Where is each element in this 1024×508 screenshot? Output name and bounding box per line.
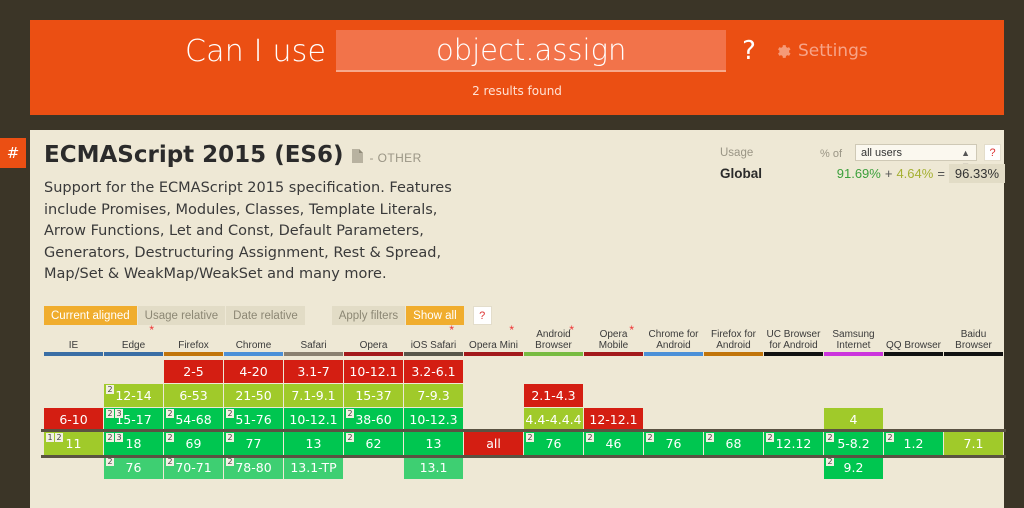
version-cell-empty [44, 384, 103, 407]
version-label: 2.1-4.3 [531, 388, 575, 403]
browser-name: UC Browserfor Android [764, 328, 823, 352]
version-cell[interactable]: 10-12.3 [404, 408, 463, 431]
version-label: 10-12.3 [409, 412, 457, 427]
version-cell[interactable]: 4 [824, 408, 883, 431]
version-cell-empty [464, 456, 523, 479]
version-cell[interactable]: 4-20 [224, 360, 283, 383]
version-cell-empty [644, 408, 703, 431]
version-label: 77 [246, 436, 262, 451]
footnote-badge[interactable]: 2 [106, 457, 114, 466]
version-cell[interactable]: 13.1 [404, 456, 463, 479]
version-label: 76 [666, 436, 682, 451]
version-cell[interactable]: 13.1-TP [284, 456, 343, 479]
version-cell-empty [764, 456, 823, 479]
version-label: 2-5 [183, 364, 203, 379]
version-cell-stack: 212-142315-172318276 [104, 356, 163, 479]
footnote-badges: 2 [166, 433, 175, 442]
browser-name: IE [44, 328, 103, 352]
browser-note-asterisk-icon: * [569, 326, 574, 334]
version-label: 15-37 [355, 388, 391, 403]
apply-filters-button[interactable]: Apply filters [332, 306, 405, 325]
footnote-badge[interactable]: 1 [46, 433, 54, 442]
version-cell-empty [104, 360, 163, 383]
version-cell[interactable]: 262 [344, 432, 403, 455]
version-cell-stack: 425-8.229.2 [824, 356, 883, 479]
version-cell[interactable]: 2-5 [164, 360, 223, 383]
footnote-badge[interactable]: 2 [646, 433, 654, 442]
version-cell[interactable]: 7.1-9.1 [284, 384, 343, 407]
version-cell-empty [584, 360, 643, 383]
version-cell[interactable]: 4.4-4.4.4 [524, 408, 583, 431]
browser-name: Firefox forAndroid [704, 328, 763, 352]
version-label: 13.1-TP [290, 460, 336, 475]
browser-column: Firefox forAndroid268 [704, 328, 763, 480]
footnote-badge[interactable]: 2 [526, 433, 534, 442]
version-cell-stack: 4-2021-50251-76277278-80 [224, 356, 283, 479]
footnote-badges: 2 [346, 433, 355, 442]
footnote-badges: 2 [346, 409, 355, 418]
browser-column: IE6-101211 [44, 328, 103, 480]
gear-icon [774, 43, 791, 60]
version-cell[interactable]: 251-76 [224, 408, 283, 431]
version-cell-empty [644, 384, 703, 407]
footnote-badge[interactable]: 2 [106, 409, 114, 418]
version-cell-empty [44, 456, 103, 479]
version-cell-stack: 3.2-6.17-9.310-12.31313.1 [404, 356, 463, 479]
audience-select[interactable]: all users ▲▼ [855, 144, 977, 161]
version-cell-stack: 212.12 [764, 356, 823, 479]
results-count: 2 results found [472, 84, 562, 98]
partial-support-percent: 4.64% [896, 166, 933, 181]
permalink-hash-button[interactable]: # [0, 138, 26, 168]
footnote-badge[interactable]: 2 [346, 433, 354, 442]
version-cell[interactable]: 6-53 [164, 384, 223, 407]
footnote-badges: 2 [106, 385, 115, 394]
version-cell[interactable]: 7-9.3 [404, 384, 463, 407]
version-cell[interactable]: 12-12.1 [584, 408, 643, 431]
version-cell-empty [884, 360, 943, 383]
version-cell[interactable]: 13 [284, 432, 343, 455]
version-cell[interactable]: 276 [104, 456, 163, 479]
footnote-badge[interactable]: 2 [766, 433, 774, 442]
version-label: 4.4-4.4.4 [525, 412, 581, 427]
version-cell-empty [824, 360, 883, 383]
version-cell[interactable]: 238-60 [344, 408, 403, 431]
version-label: 9.2 [844, 460, 864, 475]
filter-date-relative[interactable]: Date relative [226, 306, 305, 325]
version-cell-empty [524, 360, 583, 383]
footnote-badge[interactable]: 2 [166, 409, 174, 418]
version-cell[interactable]: 7.1 [944, 432, 1003, 455]
browser-name: Edge* [104, 328, 163, 352]
version-cell[interactable]: 2.1-4.3 [524, 384, 583, 407]
version-cell-empty [524, 456, 583, 479]
feature-category: - OTHER [370, 151, 422, 165]
browser-name: BaiduBrowser [944, 328, 1003, 352]
usage-help-icon[interactable]: ? [984, 144, 1001, 161]
browser-name: Opera Mini* [464, 328, 523, 352]
version-label: 7.1-9.1 [291, 388, 335, 403]
footnote-badge[interactable]: 2 [166, 433, 174, 442]
browser-name: iOS Safari* [404, 328, 463, 352]
footnote-badges: 2 [706, 433, 715, 442]
footnote-badge[interactable]: 2 [226, 457, 234, 466]
browser-column: QQ Browser21.2 [884, 328, 943, 480]
version-cell[interactable]: 3.2-6.1 [404, 360, 463, 383]
footnote-badge[interactable]: 2 [586, 433, 594, 442]
version-label: 13.1 [420, 460, 448, 475]
browser-note-asterisk-icon: * [509, 326, 514, 334]
version-label: 69 [186, 436, 202, 451]
footnote-badge[interactable]: 2 [826, 457, 834, 466]
search-input[interactable] [336, 30, 726, 72]
version-cell-stack: 6-101211 [44, 356, 103, 479]
version-label: 76 [126, 460, 142, 475]
browser-name: Opera [344, 328, 403, 352]
usage-scope: Global [720, 166, 762, 181]
footnote-badge[interactable]: 3 [115, 409, 123, 418]
browser-column: Safari3.1-77.1-9.110-12.11313.1-TP [284, 328, 343, 480]
version-cell-stack: 276 [644, 356, 703, 479]
version-cell[interactable]: 10-12.1 [284, 408, 343, 431]
search-help-icon[interactable]: ? [742, 36, 756, 66]
version-cell[interactable]: 269 [164, 432, 223, 455]
version-cell[interactable]: 1211 [44, 432, 103, 455]
version-cell-empty [464, 384, 523, 407]
version-cell-empty [944, 360, 1003, 383]
version-cell-empty [464, 360, 523, 383]
version-cell[interactable]: 15-37 [344, 384, 403, 407]
version-label: 10-12.1 [289, 412, 337, 427]
version-cell[interactable]: 278-80 [224, 456, 283, 479]
version-cell[interactable]: 277 [224, 432, 283, 455]
version-cell-empty [884, 456, 943, 479]
version-label: 1.2 [904, 436, 924, 451]
page-title: ECMAScript 2015 (ES6) [44, 142, 344, 168]
site-brand: Can I use [185, 34, 326, 69]
version-cell[interactable]: 3.1-7 [284, 360, 343, 383]
version-cell-empty [704, 408, 763, 431]
browser-name: Firefox [164, 328, 223, 352]
footnote-badges: 2 [826, 433, 835, 442]
feature-description: Support for the ECMAScript 2015 specific… [44, 178, 484, 286]
footnote-badges: 23 [106, 409, 124, 418]
version-label: 6-53 [179, 388, 207, 403]
footnote-badges: 2 [766, 433, 775, 442]
browser-name: Safari [284, 328, 343, 352]
version-cell-empty [764, 408, 823, 431]
version-cell[interactable]: 10-12.1 [344, 360, 403, 383]
version-cell-empty [704, 456, 763, 479]
version-cell[interactable]: 21-50 [224, 384, 283, 407]
version-cell-empty [704, 360, 763, 383]
version-cell-empty [764, 384, 823, 407]
filters-help-icon[interactable]: ? [473, 306, 492, 325]
footnote-badge[interactable]: 2 [346, 409, 354, 418]
footnote-badge[interactable]: 3 [115, 433, 123, 442]
version-label: 70-71 [175, 460, 211, 475]
footnote-badge[interactable]: 2 [106, 433, 114, 442]
version-cell-empty [344, 456, 403, 479]
version-label: 11 [66, 436, 82, 451]
version-cell[interactable]: all [464, 432, 523, 455]
version-label: 12-14 [115, 388, 151, 403]
version-cell-stack: 2.1-4.34.4-4.4.4276 [524, 356, 583, 479]
version-cell[interactable]: 2315-17 [104, 408, 163, 431]
version-cell-empty [944, 456, 1003, 479]
audience-select-value: all users [861, 147, 902, 159]
version-cell-empty [944, 408, 1003, 431]
usage-label: Usage [720, 147, 753, 159]
footnote-badge[interactable]: 2 [826, 433, 834, 442]
version-cell-stack: 21.2 [884, 356, 943, 479]
version-label: 62 [366, 436, 382, 451]
version-cell[interactable]: 246 [584, 432, 643, 455]
equals-sign: = [937, 166, 945, 181]
version-label: 51-76 [235, 412, 271, 427]
browser-support-grid: IE6-101211Edge*212-142315-172318276Firef… [44, 328, 1004, 480]
footnote-badge[interactable]: 2 [106, 385, 114, 394]
browser-column: UC Browserfor Android212.12 [764, 328, 823, 480]
version-label: 13 [426, 436, 442, 451]
browser-column: Chrome4-2021-50251-76277278-80 [224, 328, 283, 480]
browser-column: iOS Safari*3.2-6.17-9.310-12.31313.1 [404, 328, 463, 480]
version-cell-empty [824, 384, 883, 407]
version-cell-stack: 10-12.115-37238-60262 [344, 356, 403, 479]
version-label: 21-50 [235, 388, 271, 403]
percent-of-label: % of [820, 148, 842, 160]
browser-column: AndroidBrowser*2.1-4.34.4-4.4.4276 [524, 328, 583, 480]
version-label: 12.12 [776, 436, 812, 451]
version-cell-stack: 7.1 [944, 356, 1003, 479]
settings-button[interactable]: Settings [774, 41, 868, 61]
browser-column: Opera Mobile*12-12.1246 [584, 328, 643, 480]
browser-column: BaiduBrowser7.1 [944, 328, 1003, 480]
browser-note-asterisk-icon: * [449, 326, 454, 334]
browser-note-asterisk-icon: * [629, 326, 634, 334]
version-label: 3.1-7 [297, 364, 329, 379]
version-label: 18 [126, 436, 142, 451]
version-cell-empty [944, 384, 1003, 407]
version-label: 38-60 [355, 412, 391, 427]
footnote-badge[interactable]: 2 [226, 433, 234, 442]
version-label: 10-12.1 [349, 364, 397, 379]
feature-title-row: ECMAScript 2015 (ES6) - OTHER [44, 142, 422, 168]
site-header: Can I use ? Settings 2 results found [30, 20, 1004, 115]
footnote-badges: 2 [106, 457, 115, 466]
caniuse-page: Can I use ? Settings 2 results found # E… [0, 0, 1024, 508]
spec-document-icon[interactable] [352, 149, 363, 163]
version-cell-empty [884, 384, 943, 407]
version-label: 68 [726, 436, 742, 451]
filter-bar: Current aligned Usage relative Date rela… [44, 306, 492, 325]
version-cell-stack: 2-56-53254-68269270-71 [164, 356, 223, 479]
total-support-percent: 96.33% [949, 164, 1005, 183]
version-cell-empty [644, 456, 703, 479]
browser-name: QQ Browser [884, 328, 943, 352]
browser-column: Opera10-12.115-37238-60262 [344, 328, 403, 480]
footnote-badges: 2 [166, 457, 175, 466]
version-cell[interactable]: 276 [644, 432, 703, 455]
version-cell-empty [584, 384, 643, 407]
footnote-badges: 2 [646, 433, 655, 442]
browser-name: Chrome forAndroid [644, 328, 703, 352]
version-label: 3.2-6.1 [411, 364, 455, 379]
version-label: 4 [850, 412, 858, 427]
version-cell[interactable]: 2318 [104, 432, 163, 455]
version-cell[interactable]: 212-14 [104, 384, 163, 407]
footnote-badges: 2 [526, 433, 535, 442]
version-cell[interactable]: 29.2 [824, 456, 883, 479]
version-label: 78-80 [235, 460, 271, 475]
footnote-badges: 12 [46, 433, 64, 442]
version-label: 46 [606, 436, 622, 451]
plus-sign: + [885, 166, 893, 181]
filter-current-aligned[interactable]: Current aligned [44, 306, 137, 325]
browser-column: Chrome forAndroid276 [644, 328, 703, 480]
version-cell-empty [464, 408, 523, 431]
browser-column: Opera Mini*all [464, 328, 523, 480]
version-cell[interactable]: 254-68 [164, 408, 223, 431]
version-label: 7-9.3 [417, 388, 449, 403]
version-cell[interactable]: 268 [704, 432, 763, 455]
footnote-badge[interactable]: 2 [886, 433, 894, 442]
version-cell-empty [764, 360, 823, 383]
settings-label: Settings [798, 41, 868, 61]
footnote-badges: 2 [166, 409, 175, 418]
footnote-badge[interactable]: 2 [226, 409, 234, 418]
version-cell[interactable]: 276 [524, 432, 583, 455]
version-label: 13 [306, 436, 322, 451]
footnote-badges: 2 [226, 433, 235, 442]
version-label: all [486, 436, 501, 451]
browser-column: Edge*212-142315-172318276 [104, 328, 163, 480]
version-label: 7.1 [964, 436, 984, 451]
version-label: 4-20 [239, 364, 267, 379]
version-cell[interactable]: 25-8.2 [824, 432, 883, 455]
show-all-button[interactable]: Show all [406, 306, 463, 325]
usage-stats: 91.69% + 4.64% = 96.33% [810, 164, 1005, 183]
footnote-badge[interactable]: 2 [166, 457, 174, 466]
browser-name: AndroidBrowser* [524, 328, 583, 352]
footnote-badges: 2 [226, 457, 235, 466]
browser-column: SamsungInternet425-8.229.2 [824, 328, 883, 480]
version-label: 54-68 [175, 412, 211, 427]
version-cell-empty [44, 360, 103, 383]
version-cell[interactable]: 212.12 [764, 432, 823, 455]
browser-columns: IE6-101211Edge*212-142315-172318276Firef… [44, 328, 1004, 480]
version-label: 6-10 [59, 412, 87, 427]
version-label: 76 [546, 436, 562, 451]
footnote-badges: 2 [226, 409, 235, 418]
version-label: 12-12.1 [589, 412, 637, 427]
footnote-badges: 2 [886, 433, 895, 442]
version-cell[interactable]: 21.2 [884, 432, 943, 455]
footnote-badge[interactable]: 2 [55, 433, 63, 442]
browser-note-asterisk-icon: * [149, 326, 154, 334]
search-row: Can I use ? Settings [30, 30, 1004, 72]
footnote-badge[interactable]: 2 [706, 433, 714, 442]
version-cell[interactable]: 6-10 [44, 408, 103, 431]
version-cell-empty [584, 456, 643, 479]
version-cell-empty [644, 360, 703, 383]
version-cell-empty [884, 408, 943, 431]
browser-name: SamsungInternet [824, 328, 883, 352]
feature-card-content: ECMAScript 2015 (ES6) - OTHER Support fo… [30, 130, 1004, 508]
browser-name: Chrome [224, 328, 283, 352]
version-cell-stack: all [464, 356, 523, 479]
footnote-badges: 2 [826, 457, 835, 466]
version-cell-stack: 12-12.1246 [584, 356, 643, 479]
version-cell[interactable]: 13 [404, 432, 463, 455]
footnote-badges: 2 [586, 433, 595, 442]
version-cell-stack: 268 [704, 356, 763, 479]
version-label: 5-8.2 [837, 436, 869, 451]
footnote-badges: 23 [106, 433, 124, 442]
full-support-percent: 91.69% [837, 166, 881, 181]
browser-name: Opera Mobile* [584, 328, 643, 352]
browser-column: Firefox2-56-53254-68269270-71 [164, 328, 223, 480]
version-cell[interactable]: 270-71 [164, 456, 223, 479]
version-cell-empty [704, 384, 763, 407]
version-cell-stack: 3.1-77.1-9.110-12.11313.1-TP [284, 356, 343, 479]
